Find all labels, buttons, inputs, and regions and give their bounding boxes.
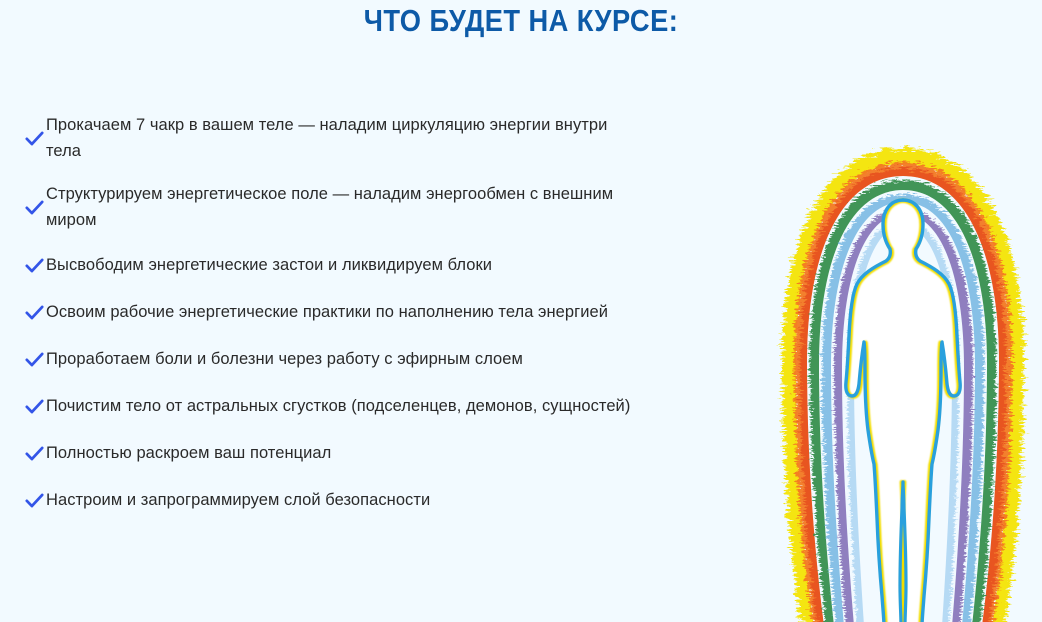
list-item-label: Освоим рабочие энергетические практики п… — [46, 299, 646, 325]
list-item-label: Высвободим энергетические застои и ликви… — [46, 252, 646, 278]
check-mark-icon — [0, 255, 46, 276]
list-item-label: Структурируем энергетическое поле — нала… — [46, 181, 646, 233]
check-mark-icon — [0, 302, 46, 323]
check-mark-icon — [0, 490, 46, 511]
list-item-label: Проработаем боли и болезни через работу … — [46, 346, 646, 372]
list-item-label: Почистим тело от астральных сгустков (по… — [46, 393, 646, 419]
list-item: Полностью раскроем ваш потенциал — [0, 438, 700, 468]
list-item-label: Настроим и запрограммируем слой безопасн… — [46, 487, 646, 513]
check-mark-icon — [0, 128, 46, 149]
list-item: Освоим рабочие энергетические практики п… — [0, 297, 700, 327]
course-benefits-list: Прокачаем 7 чакр в вашем теле — наладим … — [0, 112, 700, 532]
poster-root: ЧТО БУДЕТ НА КУРСЕ: Прокачаем 7 чакр в в… — [0, 0, 1042, 622]
check-mark-icon — [0, 443, 46, 464]
human-aura-chakra-illustration — [762, 104, 1042, 622]
list-item: Почистим тело от астральных сгустков (по… — [0, 391, 700, 421]
list-item-label: Прокачаем 7 чакр в вашем теле — наладим … — [46, 112, 646, 164]
list-item: Настроим и запрограммируем слой безопасн… — [0, 485, 700, 515]
list-item: Проработаем боли и болезни через работу … — [0, 344, 700, 374]
check-mark-icon — [0, 349, 46, 370]
page-title: ЧТО БУДЕТ НА КУРСЕ: — [63, 3, 980, 39]
check-mark-icon — [0, 396, 46, 417]
list-item-label: Полностью раскроем ваш потенциал — [46, 440, 646, 466]
list-item: Структурируем энергетическое поле — нала… — [0, 181, 700, 233]
check-mark-icon — [0, 197, 46, 218]
list-item: Прокачаем 7 чакр в вашем теле — наладим … — [0, 112, 700, 164]
list-item: Высвободим энергетические застои и ликви… — [0, 250, 700, 280]
